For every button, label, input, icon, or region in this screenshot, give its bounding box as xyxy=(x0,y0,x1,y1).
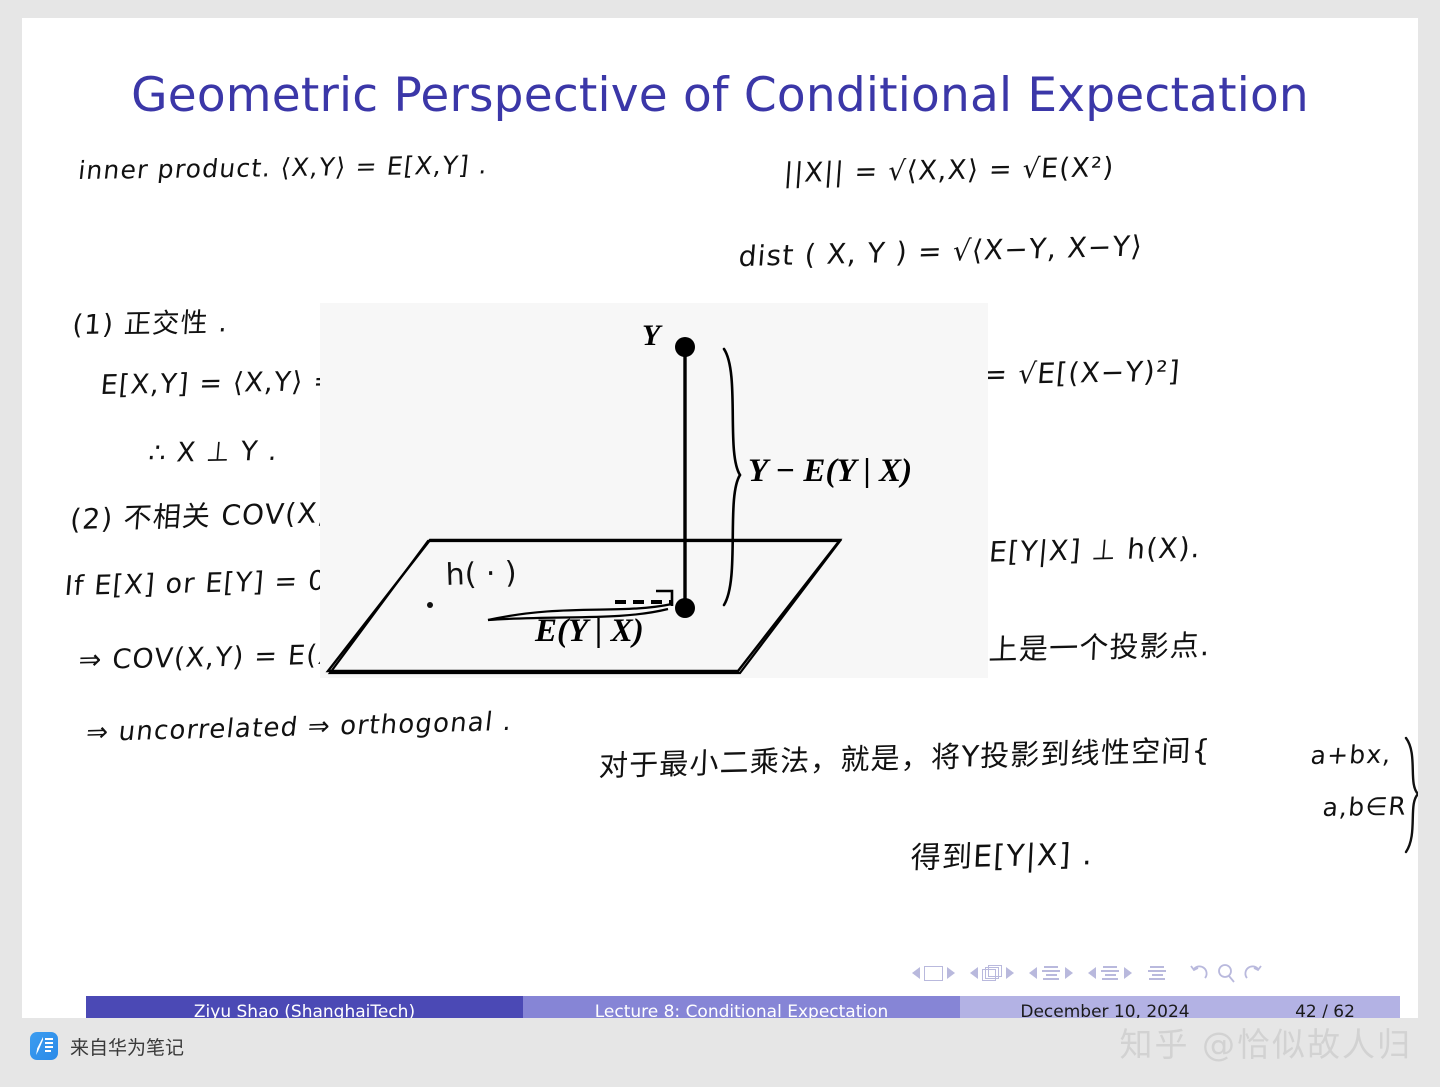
forward-icon[interactable] xyxy=(1242,963,1264,983)
slide-stack-icon[interactable] xyxy=(982,965,1002,981)
nav-group-document[interactable] xyxy=(1147,966,1167,980)
page-root: Geometric Perspective of Conditional Exp… xyxy=(0,0,1440,1087)
footer-meta: December 10, 2024 42 / 62 xyxy=(960,996,1400,1018)
footer-date: December 10, 2024 xyxy=(960,1002,1250,1019)
annotation-distance: dist ( X, Y ) = √⟨X−Y, X−Y⟩ xyxy=(737,229,1144,273)
annotation-bottom-brace-1: a+bx, xyxy=(1309,740,1392,770)
point-Y xyxy=(675,337,695,357)
nav-group-frame[interactable] xyxy=(912,966,955,981)
annotation-distance-expanded: = √E[(X−Y)²] xyxy=(982,355,1182,391)
nav-group-subsection[interactable] xyxy=(1029,966,1073,980)
plane-shape xyxy=(330,541,840,673)
projection-figure-svg: h( · ) xyxy=(320,303,988,678)
next-subsection-icon[interactable] xyxy=(1065,967,1073,979)
zhihu-watermark: 知乎 @恰似故人归 xyxy=(1120,1018,1413,1066)
nav-group-section[interactable] xyxy=(1088,966,1132,980)
residual-brace-icon xyxy=(724,349,740,605)
search-icon[interactable] xyxy=(1216,963,1236,983)
frame-icon[interactable] xyxy=(924,966,943,981)
prev-section-icon[interactable] xyxy=(1088,967,1096,979)
next-slide-icon[interactable] xyxy=(1006,967,1014,979)
prev-frame-icon[interactable] xyxy=(912,967,920,979)
next-section-icon[interactable] xyxy=(1124,967,1132,979)
nav-group-history[interactable] xyxy=(1188,963,1264,983)
figure-label-y: Y xyxy=(642,319,660,353)
annotation-bottom-brace-2: a,b∈R } xyxy=(1321,791,1418,822)
footer-page-number: 42 / 62 xyxy=(1250,1002,1400,1019)
footer-lecture-title: Lecture 8: Conditional Expectation xyxy=(523,996,960,1018)
next-frame-icon[interactable] xyxy=(947,967,955,979)
document-icon[interactable] xyxy=(1147,966,1167,980)
annotation-bottom-line1: 对于最小二乘法，就是，将Y投影到线性空间{ xyxy=(598,727,1212,785)
set-brace-icon xyxy=(1402,736,1418,856)
footer-bar: Ziyu Shao (ShanghaiTech) Lecture 8: Cond… xyxy=(86,996,1400,1018)
back-icon[interactable] xyxy=(1188,963,1210,983)
point-projection xyxy=(675,598,695,618)
annotation-item2-line1: If E[X] or E[Y] = 0. xyxy=(63,565,337,602)
note-source-label: 来自华为笔记 xyxy=(70,1033,184,1060)
annotation-inner-product: inner product. ⟨X,Y⟩ = E[X,Y] . xyxy=(77,150,490,185)
slide-canvas: Geometric Perspective of Conditional Exp… xyxy=(22,18,1418,1018)
annotation-bottom-line2: 得到E[Y|X] . xyxy=(910,829,1095,877)
ink-dot xyxy=(427,602,433,608)
prev-slide-icon[interactable] xyxy=(970,967,978,979)
beamer-navigation-bar[interactable] xyxy=(912,956,1392,990)
annotation-item1-line2: ∴ X ⊥ Y . xyxy=(147,436,279,469)
annotation-item1-header: (1) 正交性 . xyxy=(71,300,230,342)
figure-label-projection: E(Y | X) xyxy=(535,613,644,650)
nav-group-slide[interactable] xyxy=(970,965,1014,981)
figure-label-residual: Y − E(Y | X) xyxy=(748,453,912,490)
subsection-icon[interactable] xyxy=(1041,966,1061,980)
annotation-plane-h: h( · ) xyxy=(445,556,517,593)
section-icon[interactable] xyxy=(1100,966,1120,980)
plane-outline xyxy=(328,540,840,671)
annotation-item2-line3: ⇒ uncorrelated ⇒ orthogonal . xyxy=(85,707,515,748)
footer-author: Ziyu Shao (ShanghaiTech) xyxy=(86,996,523,1018)
prev-subsection-icon[interactable] xyxy=(1029,967,1037,979)
note-source: 来自华为笔记 xyxy=(30,1032,184,1060)
annotation-norm: ||X|| = √⟨X,X⟩ = √E(X²) xyxy=(783,152,1116,189)
page-title: Geometric Perspective of Conditional Exp… xyxy=(22,68,1418,123)
huawei-notes-icon xyxy=(30,1032,58,1060)
projection-figure: h( · ) Y E(Y | X) Y − E(Y | X) xyxy=(320,303,988,678)
